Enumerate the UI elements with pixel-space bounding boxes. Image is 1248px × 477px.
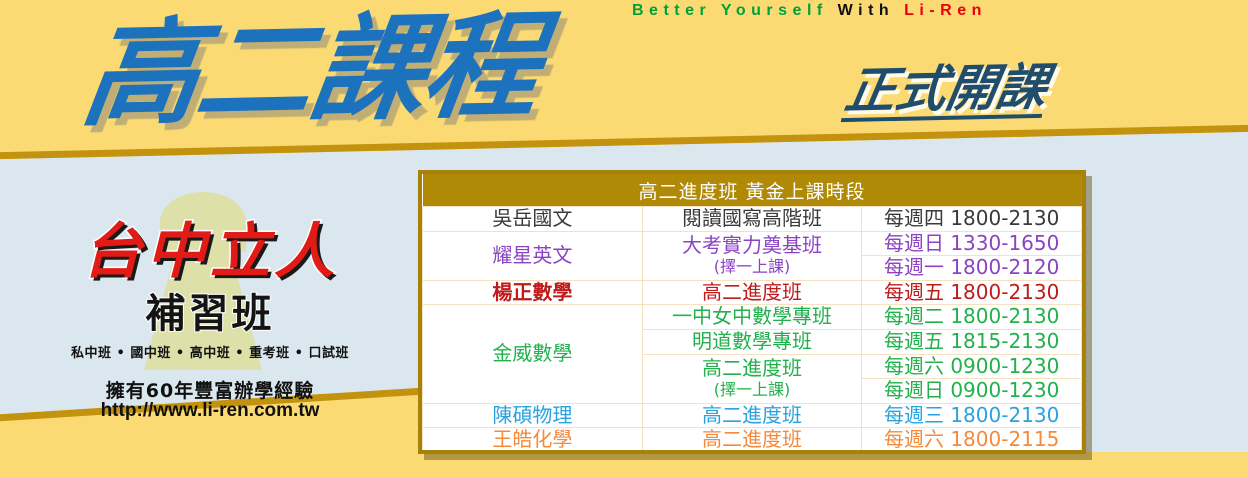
tagline-part-with: With xyxy=(838,2,904,19)
course-name: 一中女中數學專班 xyxy=(672,304,832,328)
schedule-header-title: 高二進度班 黃金上課時段 xyxy=(423,174,1082,207)
course-name: 高二進度班 xyxy=(702,427,802,451)
schedule-time-cell: 每週六 0900-1230 xyxy=(862,354,1082,379)
schedule-course-cell: 大考實力奠基班(擇一上課) xyxy=(642,231,862,280)
tagline-part-liren: Li-Ren xyxy=(904,2,987,19)
tagline: Better Yourself With Li-Ren xyxy=(632,2,987,20)
schedule-time-cell: 每週三 1800-2130 xyxy=(862,403,1082,428)
schedule-time-cell: 每週日 1330-1650 xyxy=(862,231,1082,256)
schedule-time-cell: 每週五 1800-2130 xyxy=(862,280,1082,305)
poster-stage: Better Yourself With Li-Ren 高二課程 正式開課 台中… xyxy=(0,0,1248,477)
schedule-time-cell: 每週一 1800-2120 xyxy=(862,256,1082,281)
course-name: 閱讀國寫高階班 xyxy=(682,206,822,230)
course-name: 高二進度班 xyxy=(702,280,802,304)
schedule-course-cell: 高二進度班 xyxy=(642,280,862,305)
logo-class-tags: 私中班 • 國中班 • 高中班 • 重考班 • 口試班 xyxy=(30,342,390,361)
table-row: 耀星英文大考實力奠基班(擇一上課)每週日 1330-1650 xyxy=(423,231,1082,256)
schedule-time-cell: 每週六 1800-2115 xyxy=(862,428,1082,453)
logo-brand-type: 補習班 xyxy=(30,294,390,334)
schedule-table-body: 吳岳國文閱讀國寫高階班每週四 1800-2130耀星英文大考實力奠基班(擇一上課… xyxy=(423,207,1082,453)
schedule-teacher-cell: 金威數學 xyxy=(423,305,643,403)
table-row: 吳岳國文閱讀國寫高階班每週四 1800-2130 xyxy=(423,207,1082,232)
logo-website-url[interactable]: http://www.li-ren.com.tw xyxy=(30,400,390,422)
table-row: 楊正數學高二進度班每週五 1800-2130 xyxy=(423,280,1082,305)
schedule-course-cell: 高二進度班(擇一上課) xyxy=(642,354,862,403)
schedule-header-row: 高二進度班 黃金上課時段 xyxy=(423,174,1082,207)
course-name: 高二進度班 xyxy=(702,356,802,380)
schedule-time-cell: 每週二 1800-2130 xyxy=(862,305,1082,330)
schedule-teacher-cell: 陳碩物理 xyxy=(423,403,643,428)
course-name: 大考實力奠基班 xyxy=(682,233,822,257)
tagline-part-better: Better Yourself xyxy=(632,2,838,19)
logo-brand-name: 台中立人 xyxy=(30,222,390,282)
schedule-course-cell: 高二進度班 xyxy=(642,403,862,428)
table-row: 陳碩物理高二進度班每週三 1800-2130 xyxy=(423,403,1082,428)
course-note: (擇一上課) xyxy=(647,258,858,277)
course-note: (擇一上課) xyxy=(647,381,858,400)
logo-experience-text: 擁有60年豐富辦學經驗 xyxy=(30,376,390,403)
logo: 台中立人 補習班 私中班 • 國中班 • 高中班 • 重考班 • 口試班 擁有6… xyxy=(8,196,404,426)
page-subtitle: 正式開課 xyxy=(841,62,1051,122)
schedule-teacher-cell: 楊正數學 xyxy=(423,280,643,305)
schedule-teacher-cell: 王皓化學 xyxy=(423,428,643,453)
schedule-table-box: 高二進度班 黃金上課時段 吳岳國文閱讀國寫高階班每週四 1800-2130耀星英… xyxy=(418,170,1086,454)
schedule-teacher-cell: 吳岳國文 xyxy=(423,207,643,232)
schedule-time-cell: 每週五 1815-2130 xyxy=(862,329,1082,354)
schedule-course-cell: 一中女中數學專班 xyxy=(642,305,862,330)
table-row: 王皓化學高二進度班每週六 1800-2115 xyxy=(423,428,1082,453)
schedule-teacher-cell: 耀星英文 xyxy=(423,231,643,280)
schedule-course-cell: 高二進度班 xyxy=(642,428,862,453)
schedule-table: 高二進度班 黃金上課時段 吳岳國文閱讀國寫高階班每週四 1800-2130耀星英… xyxy=(422,174,1082,453)
page-title: 高二課程 xyxy=(76,9,545,133)
schedule-course-cell: 明道數學專班 xyxy=(642,329,862,354)
schedule-time-cell: 每週日 0900-1230 xyxy=(862,379,1082,404)
schedule-table-head: 高二進度班 黃金上課時段 xyxy=(423,174,1082,207)
course-name: 明道數學專班 xyxy=(692,329,812,353)
table-row: 金威數學一中女中數學專班每週二 1800-2130 xyxy=(423,305,1082,330)
course-name: 高二進度班 xyxy=(702,403,802,427)
schedule-time-cell: 每週四 1800-2130 xyxy=(862,207,1082,232)
schedule-course-cell: 閱讀國寫高階班 xyxy=(642,207,862,232)
